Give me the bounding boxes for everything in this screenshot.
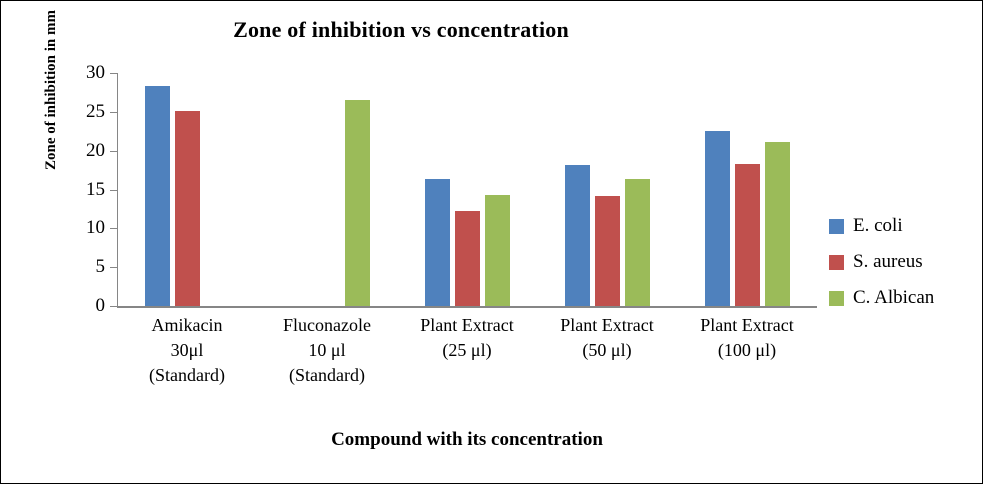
y-axis-tick: 5 [110,267,117,268]
legend-swatch-icon [829,219,844,234]
x-axis-category-label-line: (100 μl) [667,338,827,363]
y-axis-tick-mark [110,306,117,307]
legend-item[interactable]: S. aureus [829,244,979,280]
y-axis-tick-label: 0 [96,295,106,317]
x-axis-category-label-line: (Standard) [107,363,267,388]
bar-group [117,73,257,306]
y-axis-tick: 0 [110,306,117,307]
x-axis-category-label-line: (50 μl) [527,338,687,363]
bar [485,195,510,306]
legend-swatch-icon [829,291,844,306]
legend-label: E. coli [853,215,903,237]
bar-group [537,73,677,306]
bar [175,111,200,306]
x-axis-category-label-line: Plant Extract [387,313,547,338]
x-axis-title: Compound with its concentration [117,429,817,451]
bar [345,100,370,306]
x-axis-category-label-line: 10 μl [247,338,407,363]
x-axis-category-label-line: Fluconazole [247,313,407,338]
y-axis-tick-mark [110,228,117,229]
legend-label: C. Albican [853,287,934,309]
y-axis-tick-label: 20 [86,140,105,162]
y-axis-tick: 10 [110,228,117,229]
y-axis-tick-mark [110,190,117,191]
bar-group [677,73,817,306]
y-axis-tick-label: 30 [86,62,105,84]
chart-figure: Zone of inhibition vs concentration Zone… [0,0,983,484]
legend-label: S. aureus [853,251,923,273]
y-axis-title: Zone of inhibition in mm [43,0,65,205]
y-axis-tick-mark [110,73,117,74]
y-axis-tick-label: 15 [86,179,105,201]
x-axis-category-labels: Amikacin30μl(Standard)Fluconazole10 μl(S… [117,313,817,403]
y-axis-tick: 20 [110,151,117,152]
x-axis-category-label-line: Amikacin [107,313,267,338]
bar-group [397,73,537,306]
x-axis-category-label: Plant Extract(100 μl) [667,313,827,363]
x-axis-category-label: Amikacin30μl(Standard) [107,313,267,388]
plot-area: 051015202530 [117,73,817,306]
x-axis-category-label: Plant Extract(25 μl) [387,313,547,363]
x-axis-category-label-line: Plant Extract [667,313,827,338]
legend-item[interactable]: E. coli [829,208,979,244]
x-axis-category-label: Fluconazole10 μl(Standard) [247,313,407,388]
y-axis-tick-mark [110,151,117,152]
x-axis-category-label-line: (25 μl) [387,338,547,363]
bar [425,179,450,306]
legend-swatch-icon [829,255,844,270]
y-axis-tick-label: 10 [86,217,105,239]
y-axis-tick-mark [110,267,117,268]
y-axis-tick-mark [110,112,117,113]
bar [735,164,760,306]
bar [705,131,730,306]
bar [625,179,650,306]
bar-series-container [117,73,817,306]
y-axis-tick: 15 [110,190,117,191]
y-axis-tick-label: 25 [86,101,105,123]
bar [565,165,590,306]
x-axis-category-label-line: 30μl [107,338,267,363]
chart-legend: E. coliS. aureusC. Albican [829,208,979,316]
x-axis-line [117,306,817,308]
x-axis-category-label-line: (Standard) [247,363,407,388]
x-axis-category-label-line: Plant Extract [527,313,687,338]
x-axis-category-label: Plant Extract(50 μl) [527,313,687,363]
y-axis-tick-label: 5 [96,256,106,278]
bar [595,196,620,306]
bar-group [257,73,397,306]
legend-item[interactable]: C. Albican [829,280,979,316]
y-axis-tick: 30 [110,73,117,74]
y-axis-tick: 25 [110,112,117,113]
bar [455,211,480,306]
bar [145,86,170,306]
bar [765,142,790,306]
chart-title: Zone of inhibition vs concentration [1,17,801,43]
